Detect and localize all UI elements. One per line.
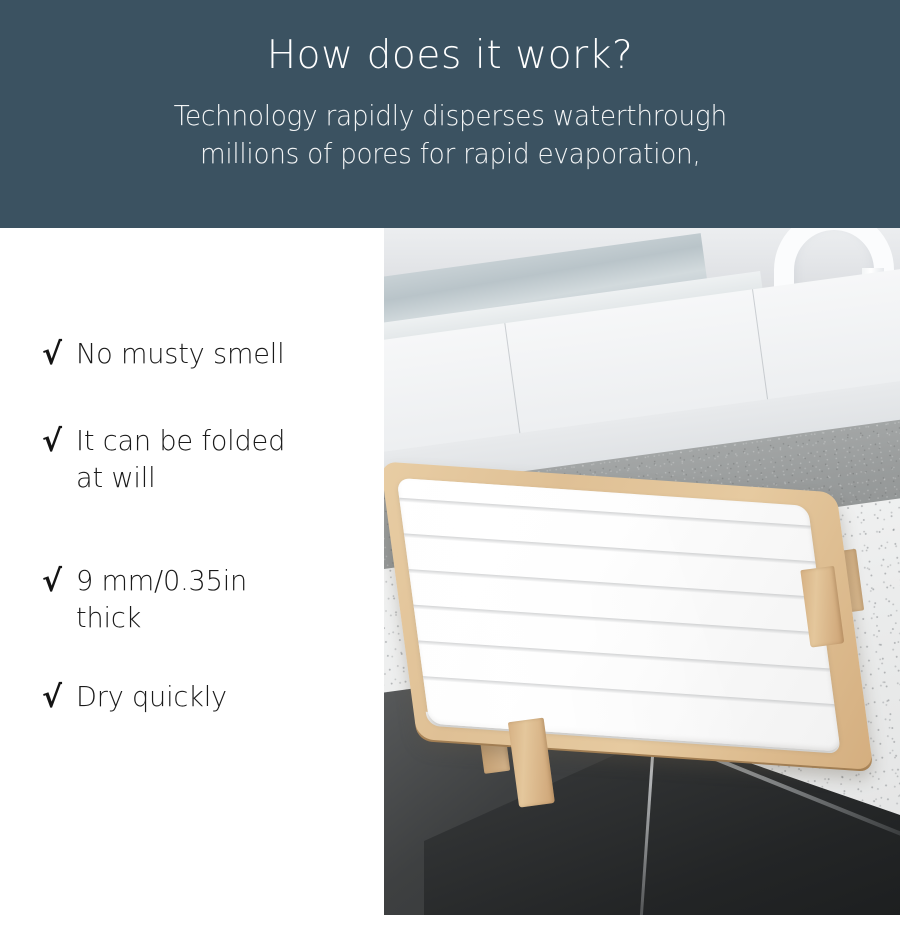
header-subtitle-line-1: Technology rapidly disperses waterthroug… [173, 99, 726, 132]
mat-groove [397, 639, 841, 674]
header-subtitle-line-2: millions of pores for rapid evaporation, [173, 135, 726, 174]
ledge-seam [752, 289, 769, 408]
header-banner: How does it work? Technology rapidly dis… [0, 0, 900, 228]
feature-label: It can be folded at will [76, 423, 285, 497]
feature-label: 9 mm/0.35in thick [76, 563, 247, 637]
list-item: √ Dry quickly [0, 679, 384, 716]
check-icon: √ [42, 425, 76, 459]
ledge-seam [504, 323, 521, 442]
list-item: √ It can be folded at will [0, 423, 384, 497]
check-icon: √ [42, 565, 76, 599]
check-icon: √ [42, 338, 76, 372]
feature-label: Dry quickly [76, 679, 227, 716]
mat-groove [397, 532, 841, 567]
page-title: How does it work? [267, 34, 634, 79]
product-photo [384, 228, 900, 915]
feature-label: No musty smell [76, 336, 284, 373]
header-subtitle: Technology rapidly disperses waterthroug… [173, 97, 726, 174]
check-icon: √ [42, 681, 76, 715]
list-item: √ 9 mm/0.35in thick [0, 563, 384, 637]
mat-groove [398, 674, 840, 709]
drying-mat-product [386, 444, 896, 833]
list-item: √ No musty smell [0, 336, 384, 373]
white-drying-mat [397, 478, 841, 752]
mat-groove [397, 603, 841, 638]
mat-groove [397, 567, 841, 602]
feature-list: √ No musty smell √ It can be folded at w… [0, 228, 384, 947]
content-area: √ No musty smell √ It can be folded at w… [0, 228, 900, 947]
